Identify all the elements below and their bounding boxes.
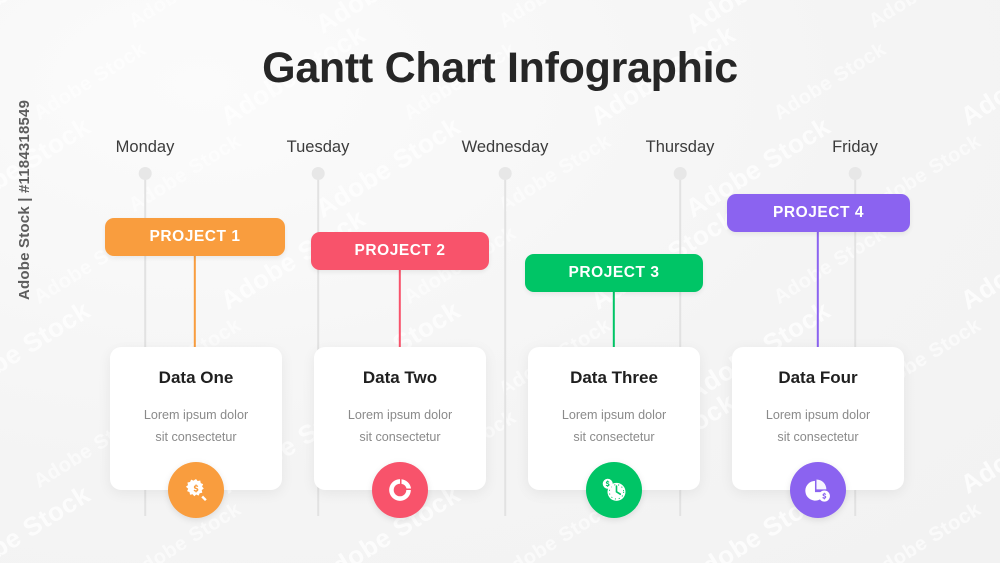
day-label-friday: Friday [832,138,878,157]
card-title: Data Four [732,368,904,388]
gridline-wednesday [504,176,506,516]
watermark-text: Adobe Stock [680,0,836,40]
day-label-monday: Monday [116,138,175,157]
card-description: Lorem ipsum dolorsit consectetur [110,405,282,448]
connector-line-4 [817,232,819,347]
connector-line-2 [399,270,401,347]
card-description-line2: sit consectetur [528,427,700,449]
gantt-bar-1[interactable]: PROJECT 1 [105,218,285,256]
watermark-text: Adobe Stock [310,111,466,224]
gantt-bar-2[interactable]: PROJECT 2 [311,232,489,270]
gantt-bar-3[interactable]: PROJECT 3 [525,254,703,292]
clock-dollar-icon[interactable] [586,462,642,518]
watermark-text: Adobe Stock [125,0,246,34]
card-description-line1: Lorem ipsum dolor [314,405,486,427]
watermark-text: Adobe Stock [955,203,1000,316]
gear-dollar-icon[interactable] [168,462,224,518]
watermark-text: Adobe Stock [770,222,891,309]
card-description-line1: Lorem ipsum dolor [528,405,700,427]
connector-line-3 [613,292,615,347]
card-description-line1: Lorem ipsum dolor [110,405,282,427]
watermark-text: Adobe Stock [865,498,986,563]
card-description: Lorem ipsum dolorsit consectetur [528,405,700,448]
card-title: Data Three [528,368,700,388]
card-title: Data One [110,368,282,388]
gantt-bar-4[interactable]: PROJECT 4 [727,194,910,232]
card-description-line2: sit consectetur [314,427,486,449]
card-title: Data Two [314,368,486,388]
watermark-text: Adobe Stock [495,0,616,34]
card-description-line2: sit consectetur [732,427,904,449]
watermark-text: Adobe Stock [0,479,96,563]
donut-chart-icon[interactable] [372,462,428,518]
day-label-thursday: Thursday [646,138,715,157]
page-title: Gantt Chart Infographic [0,44,1000,93]
pie-chart-dollar-icon[interactable] [790,462,846,518]
stock-credit-label: Adobe Stock | #1184318549 [16,100,33,300]
card-description-line2: sit consectetur [110,427,282,449]
card-description-line1: Lorem ipsum dolor [732,405,904,427]
card-description: Lorem ipsum dolorsit consectetur [314,405,486,448]
watermark-text: Adobe Stock [955,387,1000,500]
day-label-tuesday: Tuesday [287,138,350,157]
watermark-text: Adobe Stock [0,0,96,40]
infographic-canvas: Adobe StockAdobe StockAdobe StockAdobe S… [0,0,1000,563]
connector-line-1 [194,256,196,347]
card-description: Lorem ipsum dolorsit consectetur [732,405,904,448]
watermark-text: Adobe Stock [865,0,986,34]
day-label-wednesday: Wednesday [462,138,549,157]
watermark-text: Adobe Stock [0,295,96,408]
watermark-text: Adobe Stock [0,111,96,224]
watermark-text: Adobe Stock [310,0,466,40]
